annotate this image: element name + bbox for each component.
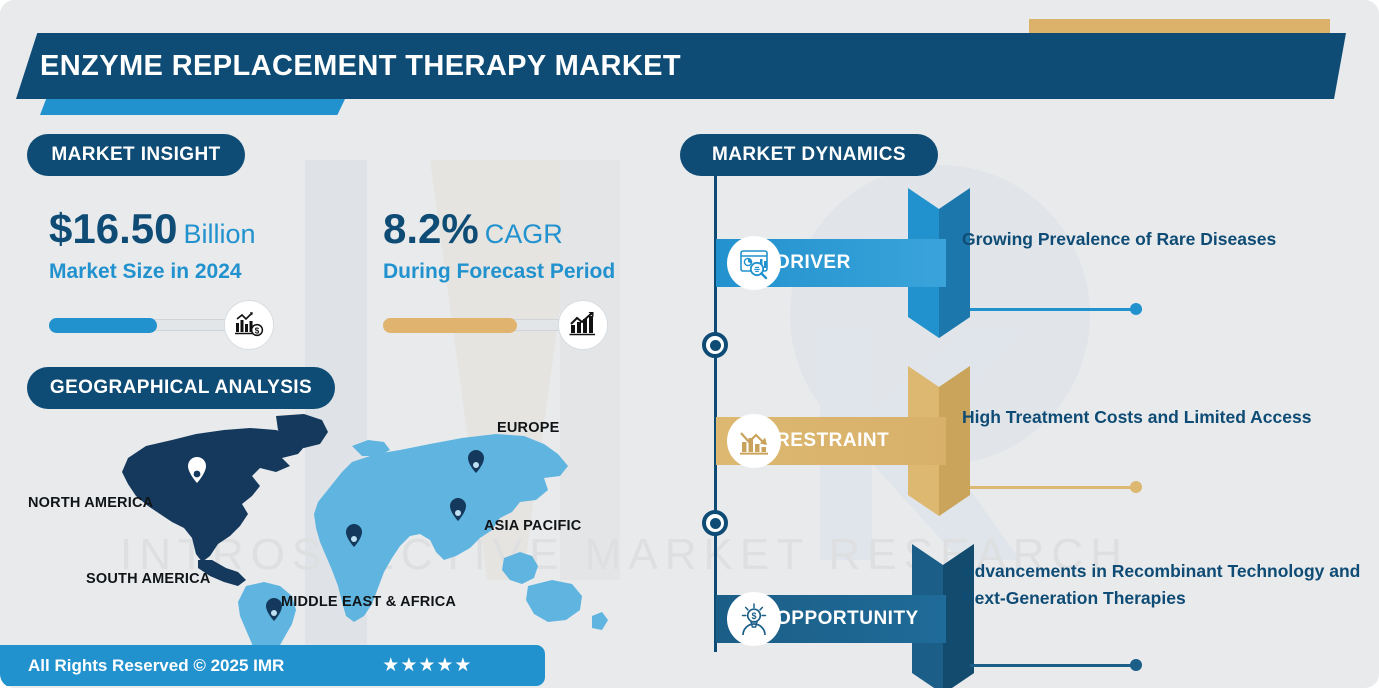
progress-fill (49, 318, 157, 333)
rating-stars: ★★★★★ (382, 654, 472, 677)
restraint-band: RESTRAINT (716, 417, 946, 465)
declining-bar-chart-icon (727, 414, 781, 468)
restraint-label: RESTRAINT (776, 430, 889, 452)
header-blue-accent (40, 99, 345, 115)
map-label-south-america: SOUTH AMERICA (86, 571, 211, 587)
dynamics-row-driver: DRIVER Growing Prevalence of Rare Diseas… (680, 188, 1379, 338)
progress-fill (383, 318, 517, 333)
kpi-market-size: $16.50Billion Market Size in 2024 $ (49, 208, 256, 350)
map-new-zealand (592, 612, 608, 630)
restraint-underline (970, 486, 1142, 489)
footer-bar: All Rights Reserved © 2025 IMR ★★★★★ (0, 645, 545, 686)
growth-arrow-chart-icon (558, 300, 608, 350)
kpi-unit: CAGR (485, 219, 563, 249)
dynamics-row-restraint: RESTRAINT High Treatment Costs and Limit… (680, 366, 1379, 516)
kpi-headline: $16.50Billion (49, 208, 256, 250)
driver-underline (970, 308, 1142, 311)
kpi-cagr: 8.2%CAGR During Forecast Period (383, 208, 615, 350)
market-dynamics-panel: DRIVER Growing Prevalence of Rare Diseas… (680, 170, 1379, 688)
infographic-canvas: INTROSPECTIVE MARKET RESEARCH ENZYME REP… (0, 0, 1379, 688)
opportunity-description: Advancements in Recombinant Technology a… (962, 558, 1362, 612)
dynamics-row-opportunity: $ OPPORTUNITY Advancements in Recombinan… (680, 544, 1379, 688)
map-label-asia-pacific: ASIA PACIFIC (484, 518, 581, 534)
kpi-subtitle: Market Size in 2024 (49, 260, 256, 284)
driver-label: DRIVER (776, 252, 851, 274)
kpi-progress: $ (49, 300, 256, 350)
map-label-middle-east-africa: MIDDLE EAST & AFRICA (281, 594, 456, 610)
restraint-end-dot (1130, 481, 1142, 493)
lightbulb-dollar-icon: $ (727, 592, 781, 646)
kpi-unit: Billion (183, 219, 255, 249)
page-title: ENZYME REPLACEMENT THERAPY MARKET (40, 50, 681, 83)
bar-chart-dollar-icon: $ (224, 300, 274, 350)
section-label-geographical-analysis: GEOGRAPHICAL ANALYSIS (27, 367, 335, 409)
driver-band: DRIVER (716, 239, 946, 287)
svg-text:$: $ (255, 326, 260, 335)
map-region-south-america (238, 582, 296, 645)
kpi-progress (383, 300, 615, 350)
kpi-value: $16.50 (49, 205, 177, 252)
driver-end-dot (1130, 303, 1142, 315)
kpi-value: 8.2% (383, 205, 479, 252)
restraint-description: High Treatment Costs and Limited Access (962, 404, 1362, 431)
copyright-text: All Rights Reserved © 2025 IMR (28, 656, 284, 676)
opportunity-end-dot (1130, 659, 1142, 671)
opportunity-band: $ OPPORTUNITY (716, 595, 946, 643)
map-label-north-america: NORTH AMERICA (28, 495, 153, 511)
opportunity-underline (970, 664, 1138, 667)
analytics-magnifier-icon (727, 236, 781, 290)
driver-description: Growing Prevalence of Rare Diseases (962, 226, 1362, 253)
svg-text:$: $ (751, 611, 756, 621)
section-label-market-insight: MARKET INSIGHT (27, 134, 245, 176)
map-indonesia (502, 552, 538, 584)
kpi-subtitle: During Forecast Period (383, 260, 615, 284)
map-region-australia (526, 580, 582, 622)
map-label-europe: EUROPE (497, 420, 559, 436)
kpi-headline: 8.2%CAGR (383, 208, 615, 250)
header-bar: ENZYME REPLACEMENT THERAPY MARKET (16, 33, 1346, 99)
opportunity-label: OPPORTUNITY (776, 608, 919, 630)
